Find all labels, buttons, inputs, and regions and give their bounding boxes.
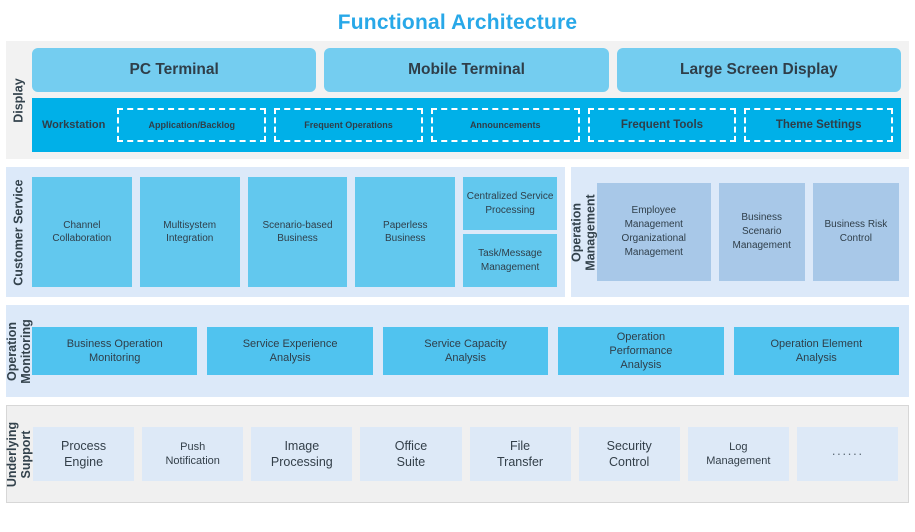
workstation-band: Workstation Application/Backlog Frequent… [32, 98, 901, 152]
section-label-display: Display [6, 41, 32, 159]
mon-box-service-capacity-analysis[interactable]: Service CapacityAnalysis [383, 327, 548, 375]
mid-row: Customer Service ChannelCollaboration Mu… [6, 167, 909, 297]
workstation-item-frequent-operations[interactable]: Frequent Operations [274, 108, 423, 142]
section-label-operation-monitoring: OperationMonitoring [6, 305, 32, 397]
functional-architecture-diagram: Functional Architecture Display PC Termi… [0, 0, 915, 532]
mon-box-business-operation-monitoring[interactable]: Business OperationMonitoring [32, 327, 197, 375]
section-operation-management: OperationManagement EmployeeManagementOr… [571, 167, 909, 297]
section-label-operation-management-text: OperationManagement [571, 194, 598, 270]
section-label-operation-monitoring-text: OperationMonitoring [6, 319, 33, 384]
section-label-underlying-support: UnderlyingSupport [7, 406, 33, 502]
terminal-box-large-screen[interactable]: Large Screen Display [617, 48, 901, 92]
sup-box-file-transfer[interactable]: FileTransfer [470, 427, 571, 481]
workstation-item-theme-settings[interactable]: Theme Settings [744, 108, 893, 142]
mon-box-operation-element-analysis[interactable]: Operation ElementAnalysis [734, 327, 899, 375]
cs-box-scenario-based-business[interactable]: Scenario-basedBusiness [248, 177, 348, 287]
mon-box-operation-performance-analysis[interactable]: OperationPerformanceAnalysis [558, 327, 723, 375]
terminal-box-pc[interactable]: PC Terminal [32, 48, 316, 92]
operation-management-body: EmployeeManagementOrganizationalManageme… [597, 167, 909, 297]
sup-box-process-engine[interactable]: ProcessEngine [33, 427, 134, 481]
underlying-support-body: ProcessEngine PushNotification ImageProc… [33, 406, 908, 502]
cs-box-channel-collaboration[interactable]: ChannelCollaboration [32, 177, 132, 287]
terminal-box-mobile[interactable]: Mobile Terminal [324, 48, 608, 92]
sup-box-more-ellipsis: ······ [797, 427, 898, 481]
display-body: PC Terminal Mobile Terminal Large Screen… [32, 41, 909, 159]
sup-box-image-processing[interactable]: ImageProcessing [251, 427, 352, 481]
section-label-operation-management: OperationManagement [571, 167, 597, 297]
om-box-business-risk-control[interactable]: Business RiskControl [813, 183, 899, 281]
operation-monitoring-body: Business OperationMonitoring Service Exp… [32, 305, 909, 397]
cs-box-multisystem-integration[interactable]: MultisystemIntegration [140, 177, 240, 287]
mon-box-service-experience-analysis[interactable]: Service ExperienceAnalysis [207, 327, 372, 375]
section-operation-monitoring: OperationMonitoring Business OperationMo… [6, 305, 909, 397]
terminal-row: PC Terminal Mobile Terminal Large Screen… [32, 48, 901, 92]
sup-box-push-notification[interactable]: PushNotification [142, 427, 243, 481]
sup-box-office-suite[interactable]: OfficeSuite [360, 427, 461, 481]
workstation-item-announcements[interactable]: Announcements [431, 108, 580, 142]
sup-box-security-control[interactable]: SecurityControl [579, 427, 680, 481]
cs-box-task-message-management[interactable]: Task/MessageManagement [463, 234, 557, 287]
cs-split-column: Centralized ServiceProcessing Task/Messa… [463, 177, 557, 287]
section-label-display-text: Display [12, 78, 25, 122]
workstation-item-frequent-tools[interactable]: Frequent Tools [588, 108, 737, 142]
workstation-item-application-backlog[interactable]: Application/Backlog [117, 108, 266, 142]
sup-box-log-management[interactable]: LogManagement [688, 427, 789, 481]
om-box-business-scenario-management[interactable]: BusinessScenarioManagement [719, 183, 805, 281]
customer-service-body: ChannelCollaboration MultisystemIntegrat… [32, 167, 565, 297]
section-customer-service: Customer Service ChannelCollaboration Mu… [6, 167, 565, 297]
page-title: Functional Architecture [0, 0, 915, 35]
section-label-customer-service-text: Customer Service [12, 179, 25, 285]
cs-box-paperless-business[interactable]: PaperlessBusiness [355, 177, 455, 287]
section-display: Display PC Terminal Mobile Terminal Larg… [6, 41, 909, 159]
cs-box-centralized-service-processing[interactable]: Centralized ServiceProcessing [463, 177, 557, 230]
section-underlying-support: UnderlyingSupport ProcessEngine PushNoti… [6, 405, 909, 503]
om-box-employee-management[interactable]: EmployeeManagementOrganizationalManageme… [597, 183, 711, 281]
section-label-underlying-support-text: UnderlyingSupport [7, 422, 34, 487]
section-label-customer-service: Customer Service [6, 167, 32, 297]
workstation-label: Workstation [38, 119, 109, 131]
